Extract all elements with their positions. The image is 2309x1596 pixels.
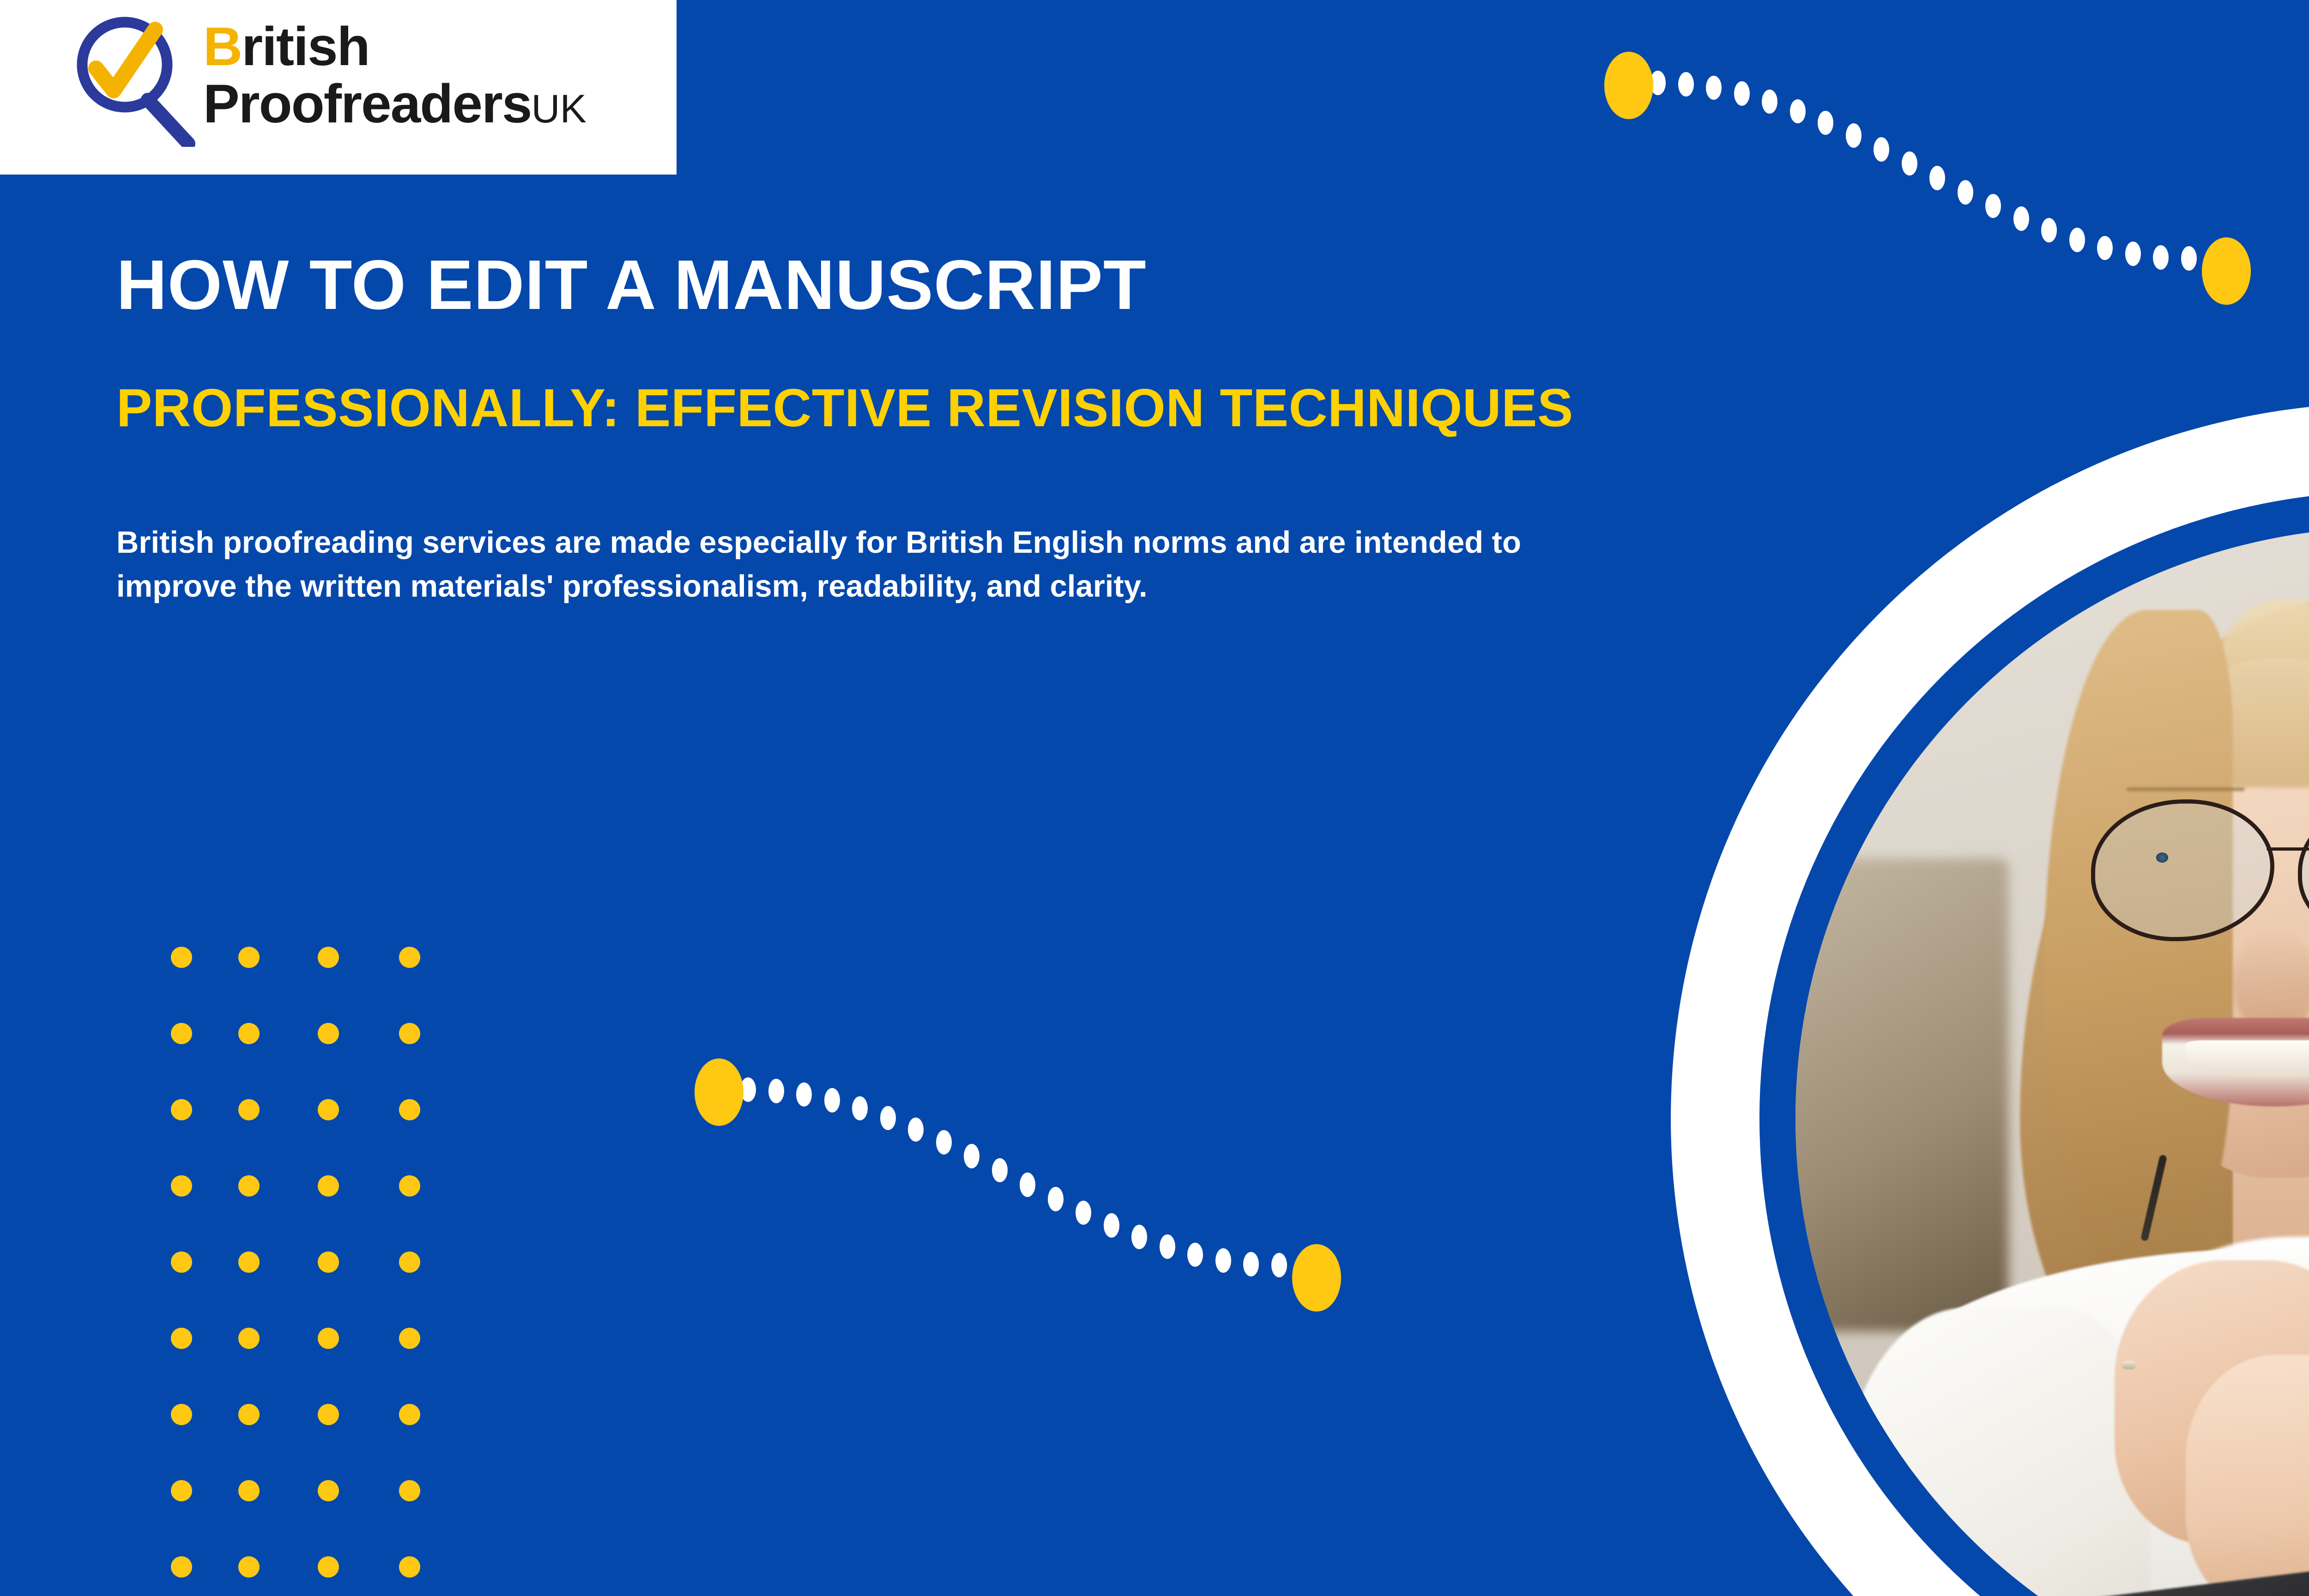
decorative-dot — [171, 1099, 192, 1120]
wave-dot — [1076, 1201, 1091, 1225]
decorative-dot — [318, 1099, 339, 1120]
photo-eyebrow — [2127, 787, 2245, 791]
photo-glasses-bridge — [2267, 847, 2309, 851]
decorative-dot — [238, 1404, 260, 1425]
wave-dot — [1846, 123, 1862, 148]
decorative-dot — [399, 1251, 420, 1273]
wave-dot — [1160, 1234, 1175, 1259]
wave-dot — [1104, 1213, 1119, 1238]
wave-dot — [1678, 72, 1694, 97]
wave-dot — [1818, 111, 1833, 135]
decorative-dot — [318, 1175, 339, 1197]
wave-end-cap-left — [695, 1058, 743, 1126]
wave-dot — [908, 1118, 924, 1142]
dotted-wave-middle — [683, 1062, 1353, 1321]
portrait-photo — [1795, 527, 2309, 1596]
wave-dot — [992, 1158, 1008, 1183]
photo-lens-left — [2091, 799, 2274, 941]
wave-dot — [2153, 245, 2169, 270]
wave-dot — [1929, 166, 1945, 190]
photo-eyeglasses — [2091, 799, 2309, 941]
magnifier-check-icon — [69, 13, 196, 147]
wave-dot — [2013, 206, 2029, 231]
body-paragraph: British proofreading services are made e… — [116, 520, 1529, 608]
wave-dot — [1958, 180, 1973, 205]
wave-dot — [1215, 1248, 1231, 1273]
decorative-dot — [238, 1251, 260, 1273]
copy-block: HOW TO EDIT A MANUSCRIPT PROFESSIONALLY:… — [116, 249, 1686, 608]
decorative-dot — [399, 1556, 420, 1578]
wave-dot — [1187, 1243, 1203, 1267]
photo-chair-left — [1795, 858, 2008, 1331]
decorative-dot — [238, 1099, 260, 1120]
wave-dot — [1020, 1173, 1035, 1197]
wave-dot — [2041, 218, 2057, 242]
decorative-dot — [171, 947, 192, 968]
decorative-dot — [171, 1175, 192, 1197]
wave-end-cap-right — [1292, 1244, 1341, 1312]
logo-line-1: British — [203, 19, 614, 74]
decorative-dot — [238, 1023, 260, 1044]
decorative-dot — [399, 1404, 420, 1425]
wave-end-cap-right — [2202, 237, 2251, 305]
decorative-dot — [171, 1404, 192, 1425]
logo-line-2: ProofreadersUK — [203, 76, 614, 133]
wave-dot — [936, 1130, 952, 1155]
decorative-dot — [318, 1404, 339, 1425]
page-subtitle: PROFESSIONALLY: EFFECTIVE REVISION TECHN… — [116, 380, 1686, 436]
logo-wordmark: British ProofreadersUK — [203, 19, 614, 133]
photo-lens-right — [2298, 799, 2309, 941]
decorative-dot — [238, 1175, 260, 1197]
decorative-dot — [238, 1328, 260, 1349]
wave-dot — [1985, 194, 2001, 218]
decorative-dot — [399, 1099, 420, 1120]
dotted-wave-top — [1593, 55, 2263, 314]
wave-dot — [880, 1106, 896, 1130]
logo-letter-b: B — [203, 16, 242, 77]
wave-dot — [1790, 99, 1806, 124]
decorative-dot — [318, 1251, 339, 1273]
decorative-dot — [318, 947, 339, 968]
decorative-dot — [399, 1480, 420, 1501]
photo-sleeve-left — [1843, 1308, 2150, 1596]
wave-dot — [1874, 137, 1889, 162]
decorative-dot — [399, 947, 420, 968]
wave-dot — [824, 1088, 840, 1112]
logo-plate[interactable]: British ProofreadersUK — [0, 0, 677, 175]
wave-dot — [768, 1079, 784, 1103]
decorative-dot — [171, 1556, 192, 1578]
wave-dot — [2125, 242, 2141, 266]
logo-line-1-rest: ritish — [242, 16, 369, 77]
wave-dot — [2097, 236, 2113, 260]
wave-dot — [2069, 228, 2085, 252]
logo-line-2-main: Proofreaders — [203, 73, 532, 134]
logo-suffix-uk: UK — [532, 87, 586, 131]
wave-end-cap-left — [1604, 52, 1653, 119]
page-title: HOW TO EDIT A MANUSCRIPT — [116, 249, 1686, 321]
logo[interactable]: British ProofreadersUK — [69, 13, 614, 151]
decorative-dot — [318, 1480, 339, 1501]
wave-dot — [1706, 76, 1722, 100]
decorative-dot — [238, 1480, 260, 1501]
photo-finger-ring — [2122, 1361, 2136, 1369]
photo-eye-left — [2156, 852, 2168, 863]
wave-dot — [852, 1096, 868, 1121]
wave-dot — [1902, 151, 1917, 176]
promotional-banner: HOW TO EDIT A MANUSCRIPT PROFESSIONALLY:… — [0, 0, 2309, 1596]
decorative-dot — [238, 1556, 260, 1578]
wave-dot — [796, 1082, 812, 1107]
decorative-dot — [171, 1480, 192, 1501]
decorative-dot — [318, 1023, 339, 1044]
wave-dot — [964, 1144, 979, 1168]
decorative-dot — [171, 1251, 192, 1273]
wave-dot — [2181, 246, 2197, 271]
decorative-dot — [318, 1556, 339, 1578]
decorative-dot — [238, 947, 260, 968]
decorative-dot — [171, 1328, 192, 1349]
decorative-dot — [171, 1023, 192, 1044]
wave-dot — [1762, 90, 1777, 114]
decorative-dot — [399, 1023, 420, 1044]
wave-dot — [1271, 1253, 1287, 1277]
decorative-dot — [318, 1328, 339, 1349]
wave-dot — [1243, 1252, 1259, 1276]
decorative-dot — [399, 1328, 420, 1349]
wave-dot — [1048, 1187, 1064, 1211]
decorative-dot — [399, 1175, 420, 1197]
dot-grid-bottom-left — [139, 933, 471, 1596]
wave-dot — [1734, 81, 1750, 106]
wave-dot — [1131, 1225, 1147, 1249]
